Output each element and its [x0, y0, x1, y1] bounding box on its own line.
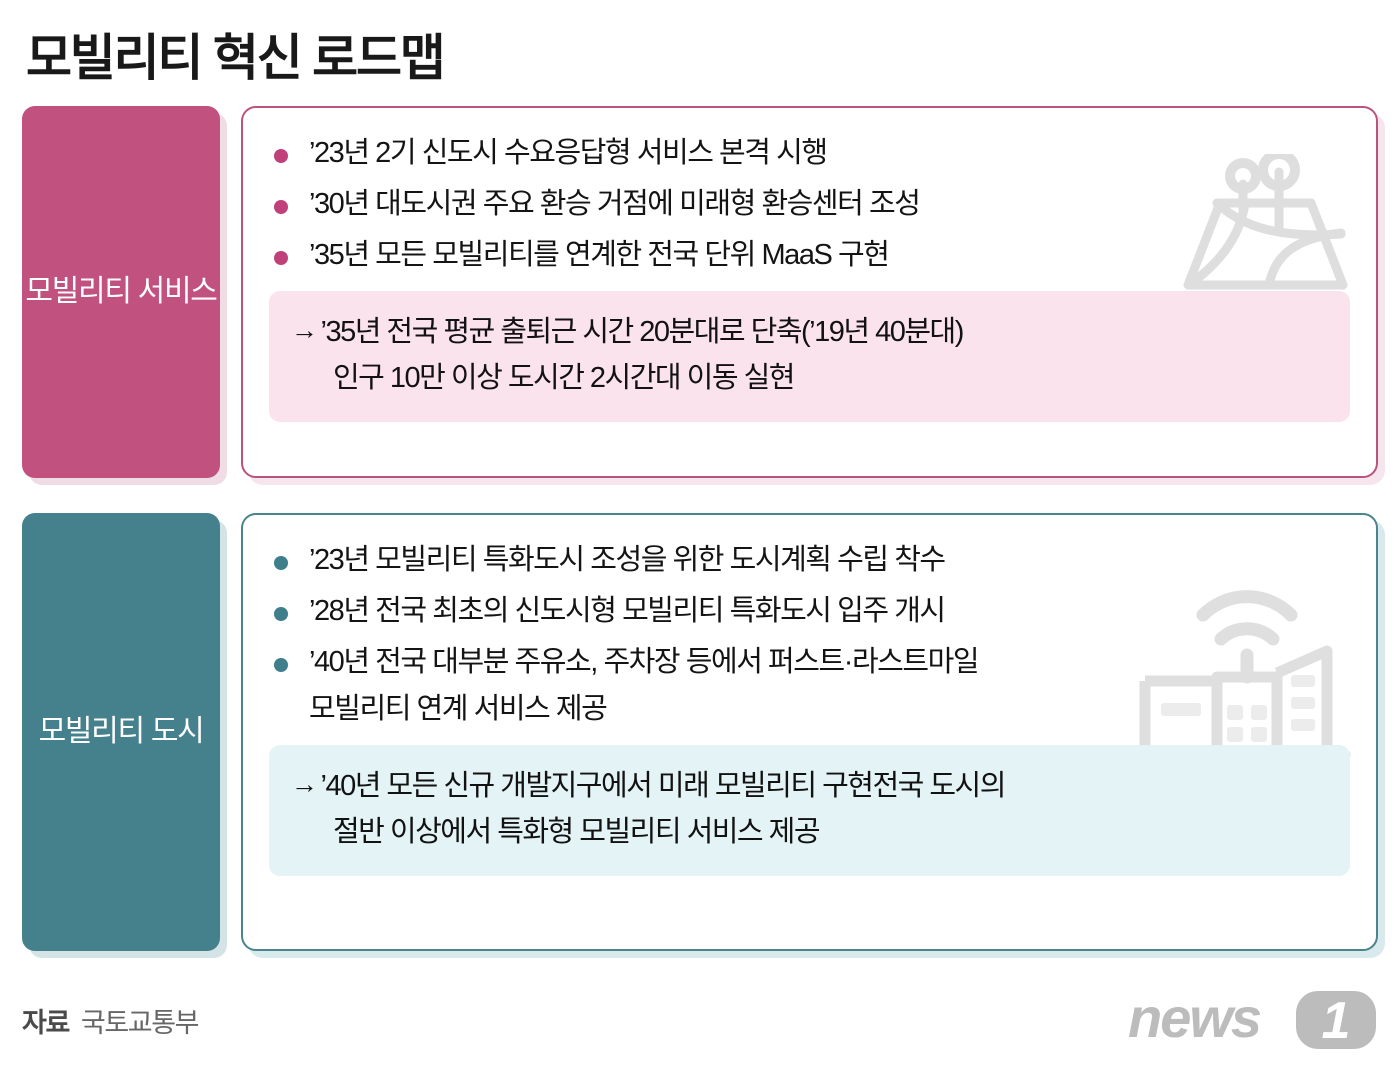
source-credit: 자료국토교통부: [22, 1001, 198, 1040]
bullet-list-mobility-city: ’23년 모빌리티 특화도시 조성을 위한 도시계획 수립 착수 ’28년 전국…: [269, 537, 1350, 733]
content-card-mobility-city: ’23년 모빌리티 특화도시 조성을 위한 도시계획 수립 착수 ’28년 전국…: [241, 513, 1378, 951]
category-tab-label: 모빌리티 도시: [39, 711, 204, 754]
page-title: 모빌리티 혁신 로드맵: [26, 18, 444, 90]
list-item: ’23년 2기 신도시 수요응답형 서비스 본격 시행: [269, 130, 1350, 177]
arrow-right-icon: →: [291, 309, 317, 352]
svg-text:1: 1: [1322, 992, 1351, 1050]
category-tab-mobility-city[interactable]: 모빌리티 도시: [22, 513, 220, 951]
news1-logo: news 1: [1128, 989, 1378, 1051]
highlight-box-mobility-city: → ’40년 모든 신규 개발지구에서 미래 모빌리티 구현전국 도시의 절반 …: [269, 745, 1350, 876]
list-item: ’23년 모빌리티 특화도시 조성을 위한 도시계획 수립 착수: [269, 537, 1350, 584]
section-mobility-service: 모빌리티 서비스 ’23년 2기 신: [22, 106, 1378, 478]
category-tab-label: 모빌리티 서비스: [25, 271, 216, 314]
list-item: ’40년 전국 대부분 주유소, 주차장 등에서 퍼스트·라스트마일 모빌리티 …: [269, 639, 1350, 733]
highlight-line-primary: → ’35년 전국 평균 출퇴근 시간 20분대로 단축(’19년 40분대): [291, 309, 1328, 355]
source-label: 자료: [22, 1008, 69, 1038]
highlight-text: ’40년 모든 신규 개발지구에서 미래 모빌리티 구현전국 도시의: [321, 763, 1005, 809]
highlight-text: ’35년 전국 평균 출퇴근 시간 20분대로 단축(’19년 40분대): [321, 309, 963, 355]
list-item: ’28년 전국 최초의 신도시형 모빌리티 특화도시 입주 개시: [269, 588, 1350, 635]
source-value: 국토교통부: [81, 1008, 198, 1038]
list-item: ’35년 모든 모빌리티를 연계한 전국 단위 MaaS 구현: [269, 232, 1350, 279]
svg-text:news: news: [1128, 989, 1261, 1049]
footer: 자료국토교통부 news 1: [22, 990, 1378, 1050]
category-tab-mobility-service[interactable]: 모빌리티 서비스: [22, 106, 220, 478]
highlight-box-mobility-service: → ’35년 전국 평균 출퇴근 시간 20분대로 단축(’19년 40분대) …: [269, 291, 1350, 422]
list-item: ’30년 대도시권 주요 환승 거점에 미래형 환승센터 조성: [269, 181, 1350, 228]
bullet-list-mobility-service: ’23년 2기 신도시 수요응답형 서비스 본격 시행 ’30년 대도시권 주요…: [269, 130, 1350, 279]
section-mobility-city: 모빌리티 도시: [22, 513, 1378, 951]
highlight-line-primary: → ’40년 모든 신규 개발지구에서 미래 모빌리티 구현전국 도시의: [291, 763, 1328, 809]
highlight-line-secondary: 인구 10만 이상 도시간 2시간대 이동 실현: [291, 355, 1328, 401]
highlight-line-secondary: 절반 이상에서 특화형 모빌리티 서비스 제공: [291, 809, 1328, 855]
content-card-mobility-service: ’23년 2기 신도시 수요응답형 서비스 본격 시행 ’30년 대도시권 주요…: [241, 106, 1378, 478]
arrow-right-icon: →: [291, 763, 317, 806]
